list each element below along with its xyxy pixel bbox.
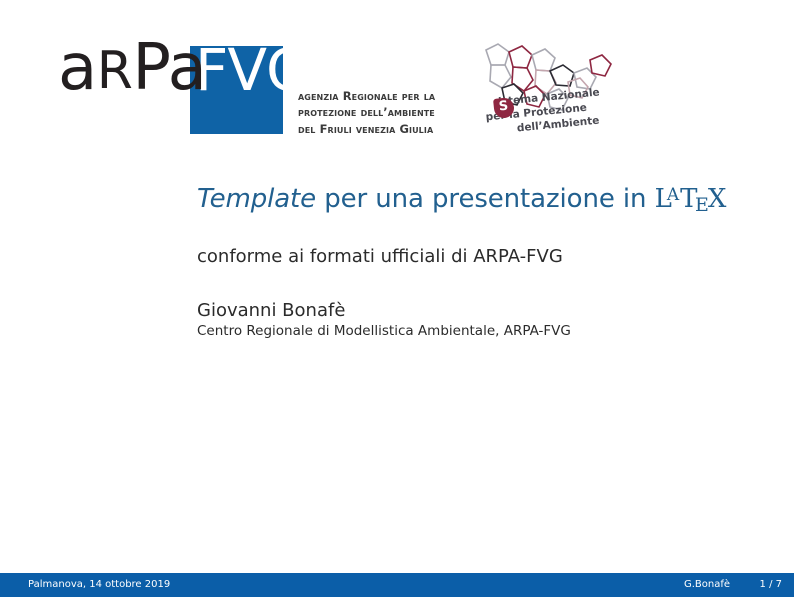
snpa-badge-letter: S <box>498 100 509 114</box>
page-title-emphasis: Template <box>197 184 316 214</box>
arpa-fvg-logo: FVG aRPa <box>58 42 288 137</box>
latex-x: X <box>708 184 726 214</box>
footer-date: Palmanova, 14 ottobre 2019 <box>28 579 170 590</box>
footer-page-number: 1 / 7 <box>760 579 782 590</box>
arpa-tagline-line-1: agenzia Regionale per la <box>298 88 435 104</box>
fvg-wordmark-text: FVG <box>195 41 310 99</box>
snpa-logo: istema Nazionale per la Protezione dell’… <box>468 32 638 144</box>
arpa-tagline-line-3: del Friuli venezia Giulia <box>298 121 435 137</box>
author-name: Giovanni Bonafè <box>197 300 345 321</box>
page-title: Template per una presentazione in LATEX <box>197 184 728 214</box>
author-institute: Centro Regionale di Modellistica Ambient… <box>197 323 571 339</box>
latex-logo: LATEX <box>655 184 728 214</box>
presentation-title-slide: FVG aRPa agenzia Regionale per la protez… <box>0 0 794 597</box>
footer-author: G.Bonafè <box>684 579 730 590</box>
page-title-rest: per una presentazione in <box>316 184 655 214</box>
latex-a: A <box>667 185 677 205</box>
latex-e: E <box>695 194 708 216</box>
arpa-tagline-line-2: protezione dell’ambiente <box>298 104 435 120</box>
page-subtitle: conforme ai formati ufficiali di ARPA-FV… <box>197 246 563 267</box>
arpa-tagline: agenzia Regionale per la protezione dell… <box>298 88 435 137</box>
arpa-wordmark-text: aRPa <box>58 36 206 100</box>
slide-footer-bar: Palmanova, 14 ottobre 2019 G.Bonafè 1 / … <box>0 573 794 597</box>
